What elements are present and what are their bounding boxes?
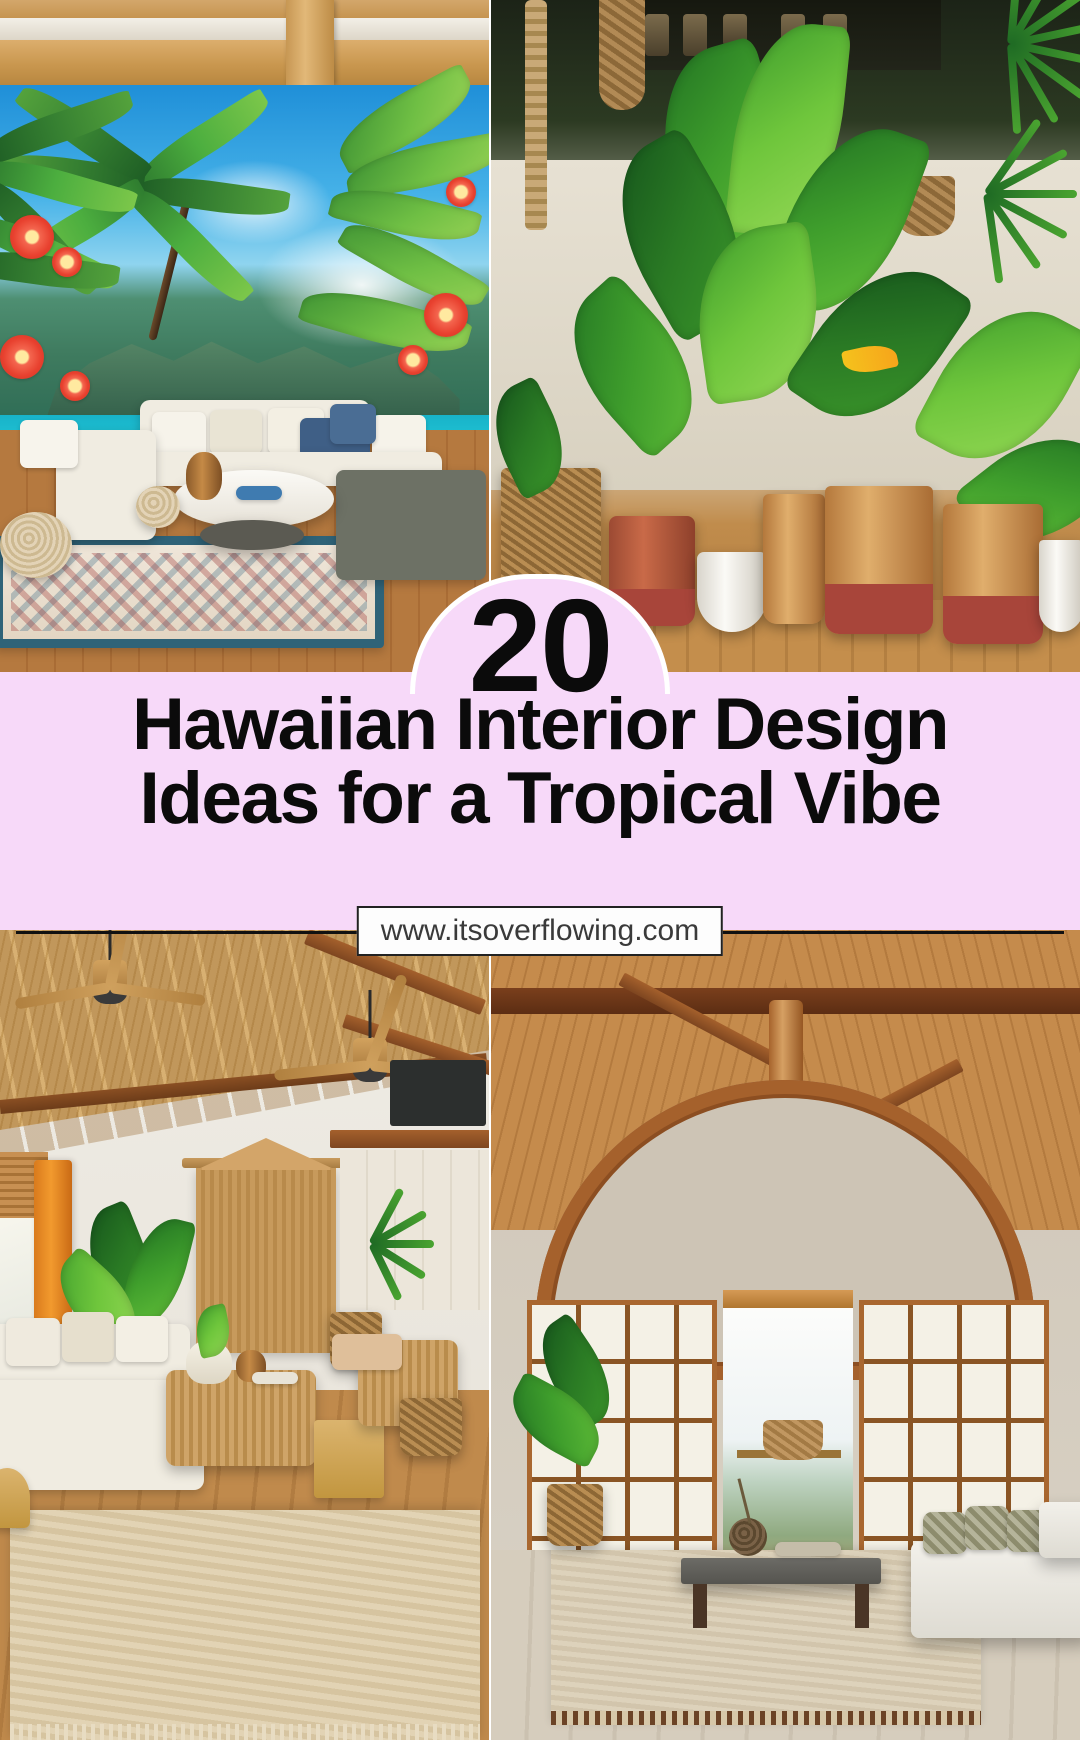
bl-television [390, 1060, 486, 1126]
tl-cushion-2 [210, 410, 262, 454]
br-patterned-pillow-1 [923, 1512, 967, 1554]
bl-table-books [252, 1372, 298, 1384]
website-url[interactable]: www.itsoverflowing.com [357, 906, 723, 956]
bl-cushion-2 [62, 1312, 114, 1362]
tr-large-terracotta-pot [825, 486, 933, 634]
tl-ceiling-panel [0, 18, 489, 40]
tl-hibiscus-2 [52, 247, 82, 277]
tr-edge-pot [1039, 540, 1080, 632]
tl-books [236, 486, 282, 500]
tl-hibiscus-4 [60, 371, 90, 401]
tr-tan-pot-1 [763, 494, 825, 624]
bl-cushion-3 [116, 1316, 168, 1362]
tr-hanging-basket-1 [599, 0, 645, 110]
bl-mantel-beam [330, 1130, 489, 1148]
tl-table-shelf [200, 520, 304, 550]
tl-hibiscus-1 [10, 215, 54, 259]
br-table-books [775, 1542, 841, 1556]
page-title: Hawaiian Interior Design Ideas for a Tro… [0, 688, 1080, 837]
tl-cushion-5 [20, 420, 78, 468]
bl-floor-basket [400, 1398, 462, 1456]
tr-macrame-rope [525, 0, 547, 230]
tl-wood-beam [0, 40, 489, 85]
bl-cushion-1 [6, 1318, 60, 1366]
tl-hibiscus-6 [398, 345, 428, 375]
tl-cushion-blue [330, 404, 376, 444]
photo-top-left[interactable] [0, 0, 489, 672]
bl-round-rattan-table [166, 1370, 316, 1466]
br-outdoor-planter [763, 1420, 823, 1460]
photo-bottom-right[interactable] [491, 930, 1080, 1740]
website-url-strip: www.itsoverflowing.com [0, 920, 1080, 942]
bl-chair-throw [332, 1334, 402, 1370]
tl-hibiscus-5 [424, 293, 468, 337]
tl-beach-mural [0, 85, 489, 430]
bl-fireplace-wall [340, 1150, 489, 1310]
tl-hibiscus-7 [446, 177, 476, 207]
br-plant-pot [547, 1484, 603, 1546]
tl-woven-pouf-large [0, 512, 72, 578]
tl-gourd-vase [186, 452, 222, 500]
tl-armchair-dark [336, 470, 486, 580]
tl-hibiscus-3 [0, 335, 44, 379]
tl-ceiling-trim [0, 0, 489, 18]
tl-woven-pouf-small [136, 486, 180, 528]
tr-white-pot [697, 552, 767, 632]
br-door-header [723, 1290, 853, 1308]
photo-bottom-left[interactable] [0, 920, 489, 1740]
title-line-2: Ideas for a Tropical Vibe [0, 762, 1080, 836]
bl-wooden-stool [314, 1420, 384, 1498]
bl-jute-rug [10, 1510, 480, 1740]
title-banner: 20 Hawaiian Interior Design Ideas for a … [0, 672, 1080, 930]
title-line-1: Hawaiian Interior Design [0, 688, 1080, 762]
pinterest-pin: 20 Hawaiian Interior Design Ideas for a … [0, 0, 1080, 1740]
br-low-coffee-table [681, 1558, 881, 1584]
tr-tan-pot-2 [943, 504, 1043, 644]
br-daybed-backrest [1039, 1502, 1080, 1558]
tl-beam-post [286, 0, 334, 85]
br-patterned-pillow-2 [965, 1506, 1009, 1550]
